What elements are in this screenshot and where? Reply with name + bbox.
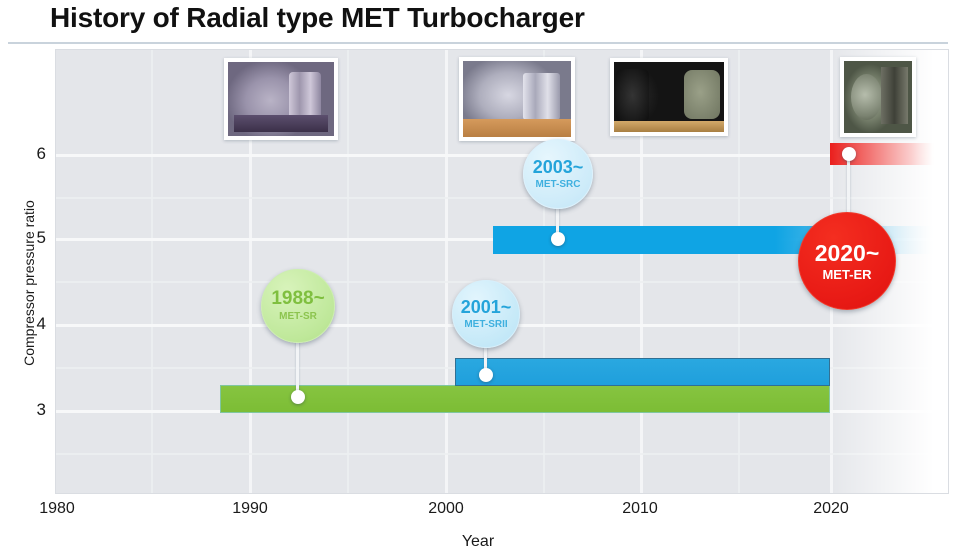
callout-bubble[interactable]: 2001~ MET-SRII <box>452 280 520 348</box>
gridline-vertical-minor <box>738 50 740 493</box>
xtick-2020: 2020 <box>813 500 849 518</box>
y-axis-label: Compressor pressure ratio <box>21 158 37 408</box>
callout-anchor-dot <box>842 147 856 161</box>
met-srii-photo <box>459 57 575 141</box>
x-axis-label: Year <box>0 533 956 551</box>
xtick-1990: 1990 <box>232 500 268 518</box>
callout-model: MET-SRII <box>464 320 507 331</box>
callout-anchor-dot <box>291 390 305 404</box>
gridline-horizontal-6 <box>56 154 948 157</box>
xtick-1980: 1980 <box>39 500 75 518</box>
callout-anchor-dot <box>551 232 565 246</box>
title-divider <box>8 42 948 44</box>
gridline-horizontal-minor <box>56 453 948 455</box>
callout-year: 2003~ <box>533 158 584 177</box>
xtick-2010: 2010 <box>622 500 658 518</box>
met-src-photo <box>610 58 728 136</box>
gridline-vertical-minor <box>347 50 349 493</box>
gridline-vertical-minor <box>151 50 153 493</box>
callout-bubble[interactable]: 2003~ MET-SRC <box>523 139 593 209</box>
callout-model: MET-SR <box>279 312 317 323</box>
gridline-horizontal-minor <box>56 197 948 199</box>
callout-model: MET-ER <box>822 268 871 282</box>
callout-bubble[interactable]: 2020~ MET-ER <box>798 212 896 310</box>
page-title: History of Radial type MET Turbocharger <box>50 2 585 34</box>
gridline-vertical-minor <box>928 50 930 493</box>
callout-anchor-dot <box>479 368 493 382</box>
bar-met-srii[interactable] <box>455 358 830 386</box>
gridline-vertical-2000 <box>445 50 448 493</box>
callout-year: 2001~ <box>461 298 512 317</box>
bar-met-sr[interactable] <box>220 385 830 413</box>
callout-bubble[interactable]: 1988~ MET-SR <box>261 269 335 343</box>
callout-stem <box>296 338 299 396</box>
callout-year: 1988~ <box>271 289 324 309</box>
callout-year: 2020~ <box>815 241 880 265</box>
xtick-2000: 2000 <box>428 500 464 518</box>
callout-model: MET-SRC <box>536 180 581 191</box>
met-sr-photo <box>224 58 338 140</box>
met-er-photo <box>840 57 916 137</box>
